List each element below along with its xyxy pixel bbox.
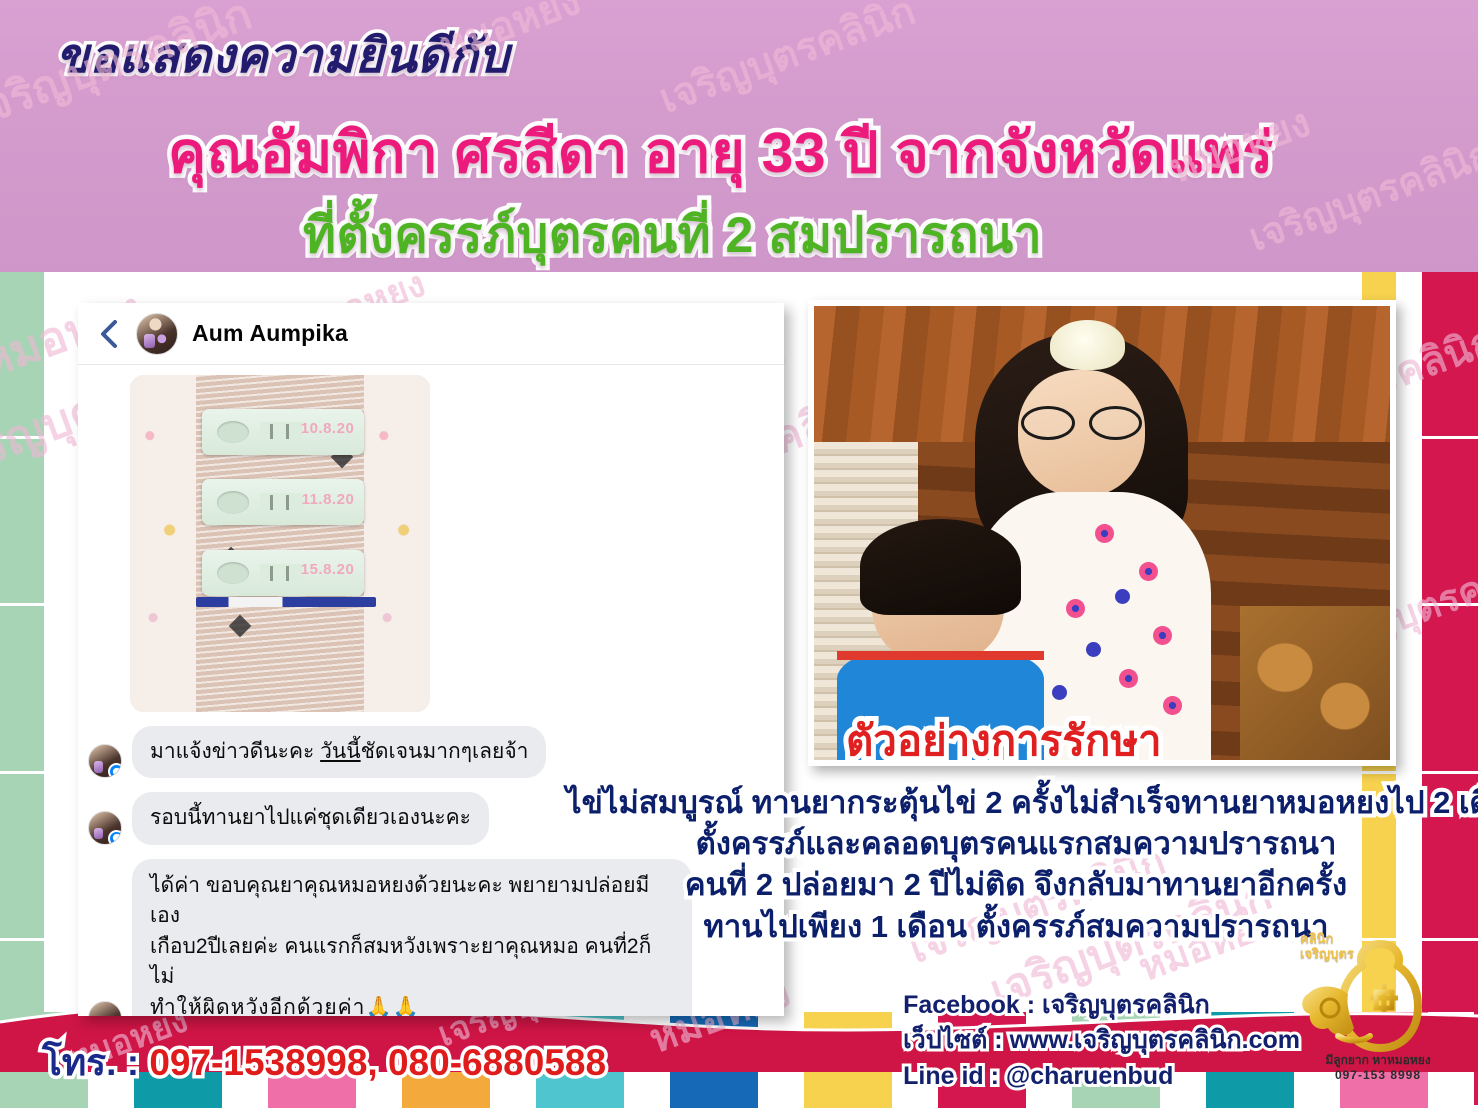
test-date-3: 15.8.20	[301, 561, 355, 578]
pregnancy-test-2: 11.8.20	[202, 479, 364, 525]
border-segment	[0, 439, 44, 606]
contact-website[interactable]: เว็ปไซต์ : www.เจริญบุตรคลินิก.com	[903, 1023, 1300, 1059]
logo-tagline: มีลูกยาก หาหมอหยง	[1294, 1053, 1462, 1069]
sender-avatar	[88, 1001, 122, 1016]
treatment-line-2: ตั้งครรภ์และคลอดบุตรคนแรกสมความปรารถนา	[566, 823, 1466, 864]
left-border-gap	[44, 272, 74, 1108]
logo-clinic-name: คลินิก เจริญบุตร	[1300, 932, 1354, 962]
family-photo	[814, 306, 1390, 760]
treatment-line-3: คนที่ 2 ปล่อยมา 2 ปีไม่ติด จึงกลับมาทานย…	[566, 864, 1466, 905]
logo-name-line-2: เจริญบุตร	[1300, 947, 1354, 962]
bottom-border-segment	[804, 1012, 892, 1108]
header-line-1: ขอแสดงความยินดีกับ	[56, 18, 509, 94]
border-segment	[0, 272, 44, 439]
test-date-1: 10.8.20	[301, 420, 355, 437]
test-well	[217, 491, 249, 513]
sender-avatar	[88, 811, 122, 845]
message-underline: วันนี้	[320, 740, 361, 763]
hair-bow	[1050, 320, 1125, 370]
border-segment	[0, 606, 44, 773]
test-well	[217, 421, 249, 443]
bottom-border-gap	[758, 1012, 804, 1108]
phone-label: โทร. :	[42, 1042, 139, 1083]
border-segment	[1422, 272, 1478, 439]
pattern-right	[364, 375, 430, 712]
clinic-logo: คลินิก เจริญบุตร มีลูกยาก หาหมอหยง 097-1…	[1294, 936, 1462, 1102]
test-strip-extra	[196, 597, 376, 607]
photo-caption: ตัวอย่างการรักษา	[846, 708, 1162, 774]
messenger-top-bar: Aum Aumpika	[78, 303, 784, 365]
message-text-2: ชัดเจนมากๆเลยจ้า	[361, 740, 529, 763]
pregnancy-test-photo[interactable]: 10.8.20 11.8.20 15.8.20	[130, 375, 430, 712]
phone-line: โทร. : 097-1538998, 080-6880588	[42, 1033, 606, 1092]
bottom-border-segment	[670, 1012, 758, 1108]
pattern-left	[130, 375, 196, 712]
treatment-detail-block: ไข่ไม่สมบูรณ์ ทานยากระตุ้นไข่ 2 ครั้งไม่…	[566, 782, 1466, 947]
contact-lineid[interactable]: Line id : @charuenbud	[903, 1059, 1300, 1095]
contact-name: Aum Aumpika	[192, 320, 348, 347]
child-hair	[860, 519, 1021, 614]
test-window	[260, 564, 302, 582]
test-window	[260, 422, 302, 440]
test-window	[260, 493, 302, 511]
carved-wood-panel	[1240, 606, 1390, 760]
border-segment	[1422, 606, 1478, 773]
message-row: มาแจ้งข่าวดีนะคะ วันนี้ชัดเจนมากๆเลยจ้า	[88, 726, 784, 778]
contact-info-box: Facebook : เจริญบุตรคลินิก เว็ปไซต์ : ww…	[903, 988, 1300, 1095]
pregnancy-test-3: 15.8.20	[202, 550, 364, 596]
logo-tagline-block: มีลูกยาก หาหมอหยง 097-153 8998	[1294, 1053, 1462, 1084]
header-line-3: ที่ตั้งครรภ์บุตรคนที่ 2 สมปรารถนา	[303, 196, 1042, 272]
treatment-line-1: ไข่ไม่สมบูรณ์ ทานยากระตุ้นไข่ 2 ครั้งไม่…	[566, 782, 1466, 823]
test-well	[217, 562, 249, 584]
message-bubble: มาแจ้งข่าวดีนะคะ วันนี้ชัดเจนมากๆเลยจ้า	[132, 726, 546, 778]
message-bubble: รอบนี้ทานยาไปแค่ชุดเดียวเองนะคะ	[132, 792, 489, 844]
bottom-border-gap	[624, 1012, 670, 1108]
contact-avatar	[136, 313, 178, 355]
test-date-2: 11.8.20	[302, 491, 355, 508]
message-text: มาแจ้งข่าวดีนะคะ	[150, 740, 320, 763]
phone-numbers: 097-1538998, 080-6880588	[149, 1042, 606, 1083]
header-line-2: คุณอัมพิกา ศรสีดา อายุ 33 ปี จากจังหวัดแ…	[168, 108, 1274, 198]
eyeglasses	[1021, 406, 1142, 440]
messenger-badge-icon	[108, 763, 122, 778]
sender-avatar	[88, 744, 122, 778]
messenger-badge-icon	[108, 830, 122, 845]
poster-header: ขอแสดงความยินดีกับ คุณอัมพิกา ศรสีดา อาย…	[0, 0, 1478, 272]
pregnancy-test-1: 10.8.20	[202, 409, 364, 455]
logo-phone: 097-153 8998	[1294, 1068, 1462, 1084]
contact-facebook[interactable]: Facebook : เจริญบุตรคลินิก	[903, 988, 1300, 1024]
left-border-stripe	[0, 272, 44, 1108]
back-chevron-icon[interactable]	[92, 317, 126, 351]
message-line: ทำให้ผิดหวังอีกด้วยค่า🙏🙏	[150, 993, 674, 1016]
family-photo-frame: ตัวอย่างการรักษา	[808, 300, 1396, 766]
poster-root: ขอแสดงความยินดีกับ คุณอัมพิกา ศรสีดา อาย…	[0, 0, 1478, 1108]
logo-name-line-1: คลินิก	[1300, 932, 1354, 947]
border-segment	[0, 774, 44, 941]
border-segment	[1422, 439, 1478, 606]
